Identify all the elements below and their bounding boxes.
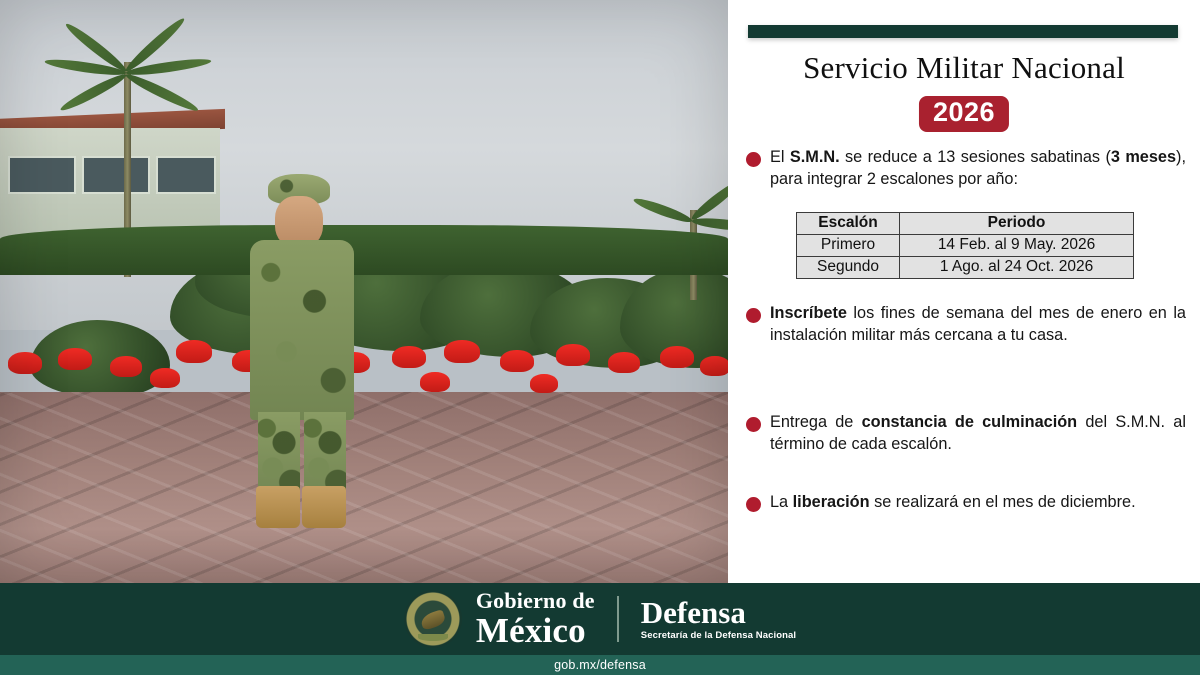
infographic-page: SMN SMN SMN: [0, 0, 1200, 675]
hedge-row: [0, 225, 728, 275]
site-url: gob.mx/defensa: [554, 658, 646, 672]
accent-bar: [748, 25, 1178, 38]
url-strip: gob.mx/defensa: [0, 655, 1200, 675]
escalon-periodo-table: Escalón Periodo Primero 14 Feb. al 9 May…: [796, 212, 1134, 279]
table-row: Primero 14 Feb. al 9 May. 2026: [797, 235, 1134, 257]
cell-periodo: 14 Feb. al 9 May. 2026: [900, 235, 1134, 257]
bullet-dot-icon: [746, 497, 761, 512]
cobblestone-ground: [0, 392, 728, 588]
bullet-text: Inscríbete los fines de semana del mes d…: [770, 303, 1186, 346]
column-header-periodo: Periodo: [900, 213, 1134, 235]
cell-escalon: Primero: [797, 235, 900, 257]
defensa-subtitle: Secretaría de la Defensa Nacional: [641, 631, 796, 641]
info-panel: Servicio Militar Nacional 2026 El S.M.N.…: [728, 0, 1200, 588]
footer-divider: [617, 596, 619, 642]
footer-bar: Gobierno de México Defensa Secretaría de…: [0, 583, 1200, 655]
bullet-dot-icon: [746, 152, 761, 167]
defensa-wordmark: Defensa Secretaría de la Defensa Naciona…: [641, 597, 796, 641]
cell-escalon: Segundo: [797, 257, 900, 279]
gobierno-de-mexico-wordmark: Gobierno de México: [476, 590, 595, 648]
year-badge: 2026: [919, 96, 1009, 132]
recruits-photo: SMN SMN SMN: [0, 0, 728, 588]
table-header-row: Escalón Periodo: [797, 213, 1134, 235]
bullet-dot-icon: [746, 308, 761, 323]
column-header-escalon: Escalón: [797, 213, 900, 235]
bullet-constancia: Entrega de constancia de culminación del…: [746, 412, 1186, 455]
page-title: Servicio Militar Nacional: [728, 50, 1200, 86]
bullet-liberacion: La liberación se realizará en el mes de …: [746, 492, 1186, 514]
bullet-text: La liberación se realizará en el mes de …: [770, 492, 1186, 514]
mexico-label: México: [476, 613, 595, 648]
bullet-text: El S.M.N. se reduce a 13 sesiones sabati…: [770, 147, 1186, 190]
bullet-reduccion: El S.M.N. se reduce a 13 sesiones sabati…: [746, 147, 1186, 190]
bullet-text: Entrega de constancia de culminación del…: [770, 412, 1186, 455]
mexico-coat-of-arms-icon: [404, 590, 462, 648]
bullet-dot-icon: [746, 417, 761, 432]
table-row: Segundo 1 Ago. al 24 Oct. 2026: [797, 257, 1134, 279]
defensa-label: Defensa: [641, 597, 796, 628]
gobierno-label: Gobierno de: [476, 590, 595, 612]
cell-periodo: 1 Ago. al 24 Oct. 2026: [900, 257, 1134, 279]
bullet-inscribete: Inscríbete los fines de semana del mes d…: [746, 303, 1186, 346]
